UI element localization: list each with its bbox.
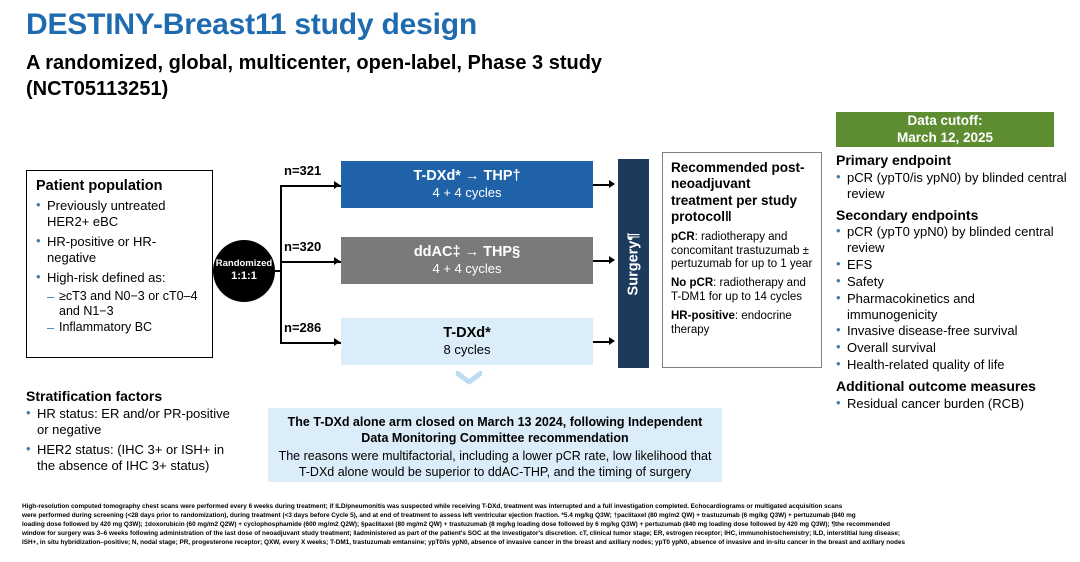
treatment-arm-subtitle: 4 + 4 cycles bbox=[432, 261, 501, 277]
arm-n-label: n=321 bbox=[284, 163, 321, 178]
data-cutoff-line1: Data cutoff: bbox=[908, 113, 983, 129]
footnote-line: High-resolution computed tomography ches… bbox=[22, 502, 1062, 511]
arrow-head-icon bbox=[334, 181, 340, 189]
connector-line bbox=[280, 342, 341, 344]
connector-spine bbox=[280, 185, 282, 343]
arrow-head-icon bbox=[334, 338, 340, 346]
treatment-arm-subtitle: 8 cycles bbox=[444, 342, 491, 358]
footnote-line: loading dose followed by 420 mg Q3W); ‡d… bbox=[22, 520, 1062, 529]
arrow-head-icon bbox=[609, 337, 615, 345]
patient-population-sublist: ≥cT3 and N0−3 or cT0–4 and N1−3 Inflamma… bbox=[47, 289, 204, 336]
list-item: High-risk defined as: ≥cT3 and N0−3 or c… bbox=[36, 270, 204, 335]
stratification-section: Stratification factors HR status: ER and… bbox=[26, 388, 241, 478]
list-item: EFS bbox=[836, 257, 1068, 273]
arm-n-label: n=320 bbox=[284, 239, 321, 254]
arm-closure-note-body: The reasons were multifactorial, includi… bbox=[276, 448, 714, 480]
list-item: HR status: ER and/or PR-positive or nega… bbox=[26, 406, 241, 438]
arrow-head-icon bbox=[334, 257, 340, 265]
stratification-list: HR status: ER and/or PR-positive or nega… bbox=[26, 406, 241, 474]
footnote-line: were performed during screening (<28 day… bbox=[22, 511, 1062, 520]
list-item: Residual cancer burden (RCB) bbox=[836, 396, 1068, 412]
treatment-arm-title: T-DXd* → THP† bbox=[413, 168, 520, 185]
primary-endpoint-list: pCR (ypT0/is ypN0) by blinded central re… bbox=[836, 170, 1068, 202]
connector-line bbox=[275, 270, 281, 272]
data-cutoff-line2: March 12, 2025 bbox=[897, 130, 993, 146]
list-item-label: High-risk defined as: bbox=[47, 270, 166, 285]
list-item: Invasive disease-free survival bbox=[836, 323, 1068, 339]
arrow-head-icon bbox=[609, 180, 615, 188]
treatment-arm-1: T-DXd* → THP† 4 + 4 cycles bbox=[341, 161, 593, 208]
list-item: HER2 status: (IHC 3+ or ISH+ in the abse… bbox=[26, 442, 241, 474]
post-neoadjuvant-box: Recommended post-neoadjuvant treatment p… bbox=[662, 152, 822, 368]
patient-population-list: Previously untreated HER2+ eBC HR-positi… bbox=[36, 198, 204, 335]
footnote-line: window for surgery was 3–6 weeks followi… bbox=[22, 529, 1062, 538]
surgery-label: Surgery¶ bbox=[626, 232, 642, 295]
treatment-arm-title: T-DXd* bbox=[443, 325, 491, 342]
endpoints-section: Primary endpoint pCR (ypT0/is ypN0) by b… bbox=[836, 152, 1068, 413]
randomization-node: Randomized 1:1:1 bbox=[213, 240, 275, 302]
treatment-arm-subtitle: 4 + 4 cycles bbox=[432, 185, 501, 201]
list-item: pCR (ypT0/is ypN0) by blinded central re… bbox=[836, 170, 1068, 202]
patient-population-box: Patient population Previously untreated … bbox=[26, 170, 213, 358]
connector-line bbox=[280, 185, 341, 187]
page-subtitle: A randomized, global, multicenter, open-… bbox=[26, 50, 726, 103]
patient-population-heading: Patient population bbox=[36, 178, 204, 194]
list-item: Inflammatory BC bbox=[47, 320, 204, 335]
additional-outcomes-list: Residual cancer burden (RCB) bbox=[836, 396, 1068, 412]
post-neoadjuvant-item: pCR: radiotherapy and concomitant trastu… bbox=[671, 231, 813, 272]
secondary-endpoints-heading: Secondary endpoints bbox=[836, 207, 1068, 224]
stratification-heading: Stratification factors bbox=[26, 388, 241, 404]
arm-closure-note: The T-DXd alone arm closed on March 13 2… bbox=[268, 408, 722, 482]
post-neoadjuvant-title: Recommended post-neoadjuvant treatment p… bbox=[671, 160, 813, 226]
chevron-down-icon bbox=[456, 371, 482, 385]
arm-n-label: n=286 bbox=[284, 320, 321, 335]
connector-line bbox=[280, 261, 341, 263]
post-neoadjuvant-item-label: pCR bbox=[671, 231, 695, 243]
post-neoadjuvant-item: No pCR: radiotherapy and T-DM1 for up to… bbox=[671, 277, 813, 305]
post-neoadjuvant-item-label: No pCR bbox=[671, 277, 713, 289]
slide-canvas: DESTINY-Breast11 study design A randomiz… bbox=[0, 0, 1080, 562]
primary-endpoint-heading: Primary endpoint bbox=[836, 152, 1068, 169]
treatment-arm-3: T-DXd* 8 cycles bbox=[341, 318, 593, 365]
list-item: HR-positive or HR-negative bbox=[36, 234, 204, 266]
list-item: pCR (ypT0 ypN0) by blinded central revie… bbox=[836, 224, 1068, 256]
arm-closure-note-title: The T-DXd alone arm closed on March 13 2… bbox=[276, 414, 714, 446]
list-item: ≥cT3 and N0−3 or cT0–4 and N1−3 bbox=[47, 289, 204, 320]
list-item: Overall survival bbox=[836, 340, 1068, 356]
post-neoadjuvant-item: HR-positive: endocrine therapy bbox=[671, 310, 813, 338]
surgery-stage: Surgery¶ bbox=[618, 159, 649, 368]
data-cutoff-banner: Data cutoff: March 12, 2025 bbox=[836, 112, 1054, 147]
list-item: Safety bbox=[836, 274, 1068, 290]
list-item: Health-related quality of life bbox=[836, 357, 1068, 373]
list-item: Previously untreated HER2+ eBC bbox=[36, 198, 204, 230]
randomization-ratio: 1:1:1 bbox=[231, 270, 257, 283]
secondary-endpoints-list: pCR (ypT0 ypN0) by blinded central revie… bbox=[836, 224, 1068, 373]
post-neoadjuvant-item-label: HR-positive bbox=[671, 310, 735, 322]
footnotes: High-resolution computed tomography ches… bbox=[22, 502, 1062, 547]
randomization-label: Randomized bbox=[216, 259, 272, 269]
additional-outcomes-heading: Additional outcome measures bbox=[836, 378, 1068, 395]
footnote-line: ISH+, in situ hybridization–positive; N,… bbox=[22, 538, 1062, 547]
arrow-head-icon bbox=[609, 256, 615, 264]
list-item: Pharmacokinetics and immunogenicity bbox=[836, 291, 1068, 323]
treatment-arm-2: ddAC‡ → THP§ 4 + 4 cycles bbox=[341, 237, 593, 284]
page-title: DESTINY-Breast11 study design bbox=[26, 8, 477, 42]
treatment-arm-title: ddAC‡ → THP§ bbox=[414, 244, 520, 261]
